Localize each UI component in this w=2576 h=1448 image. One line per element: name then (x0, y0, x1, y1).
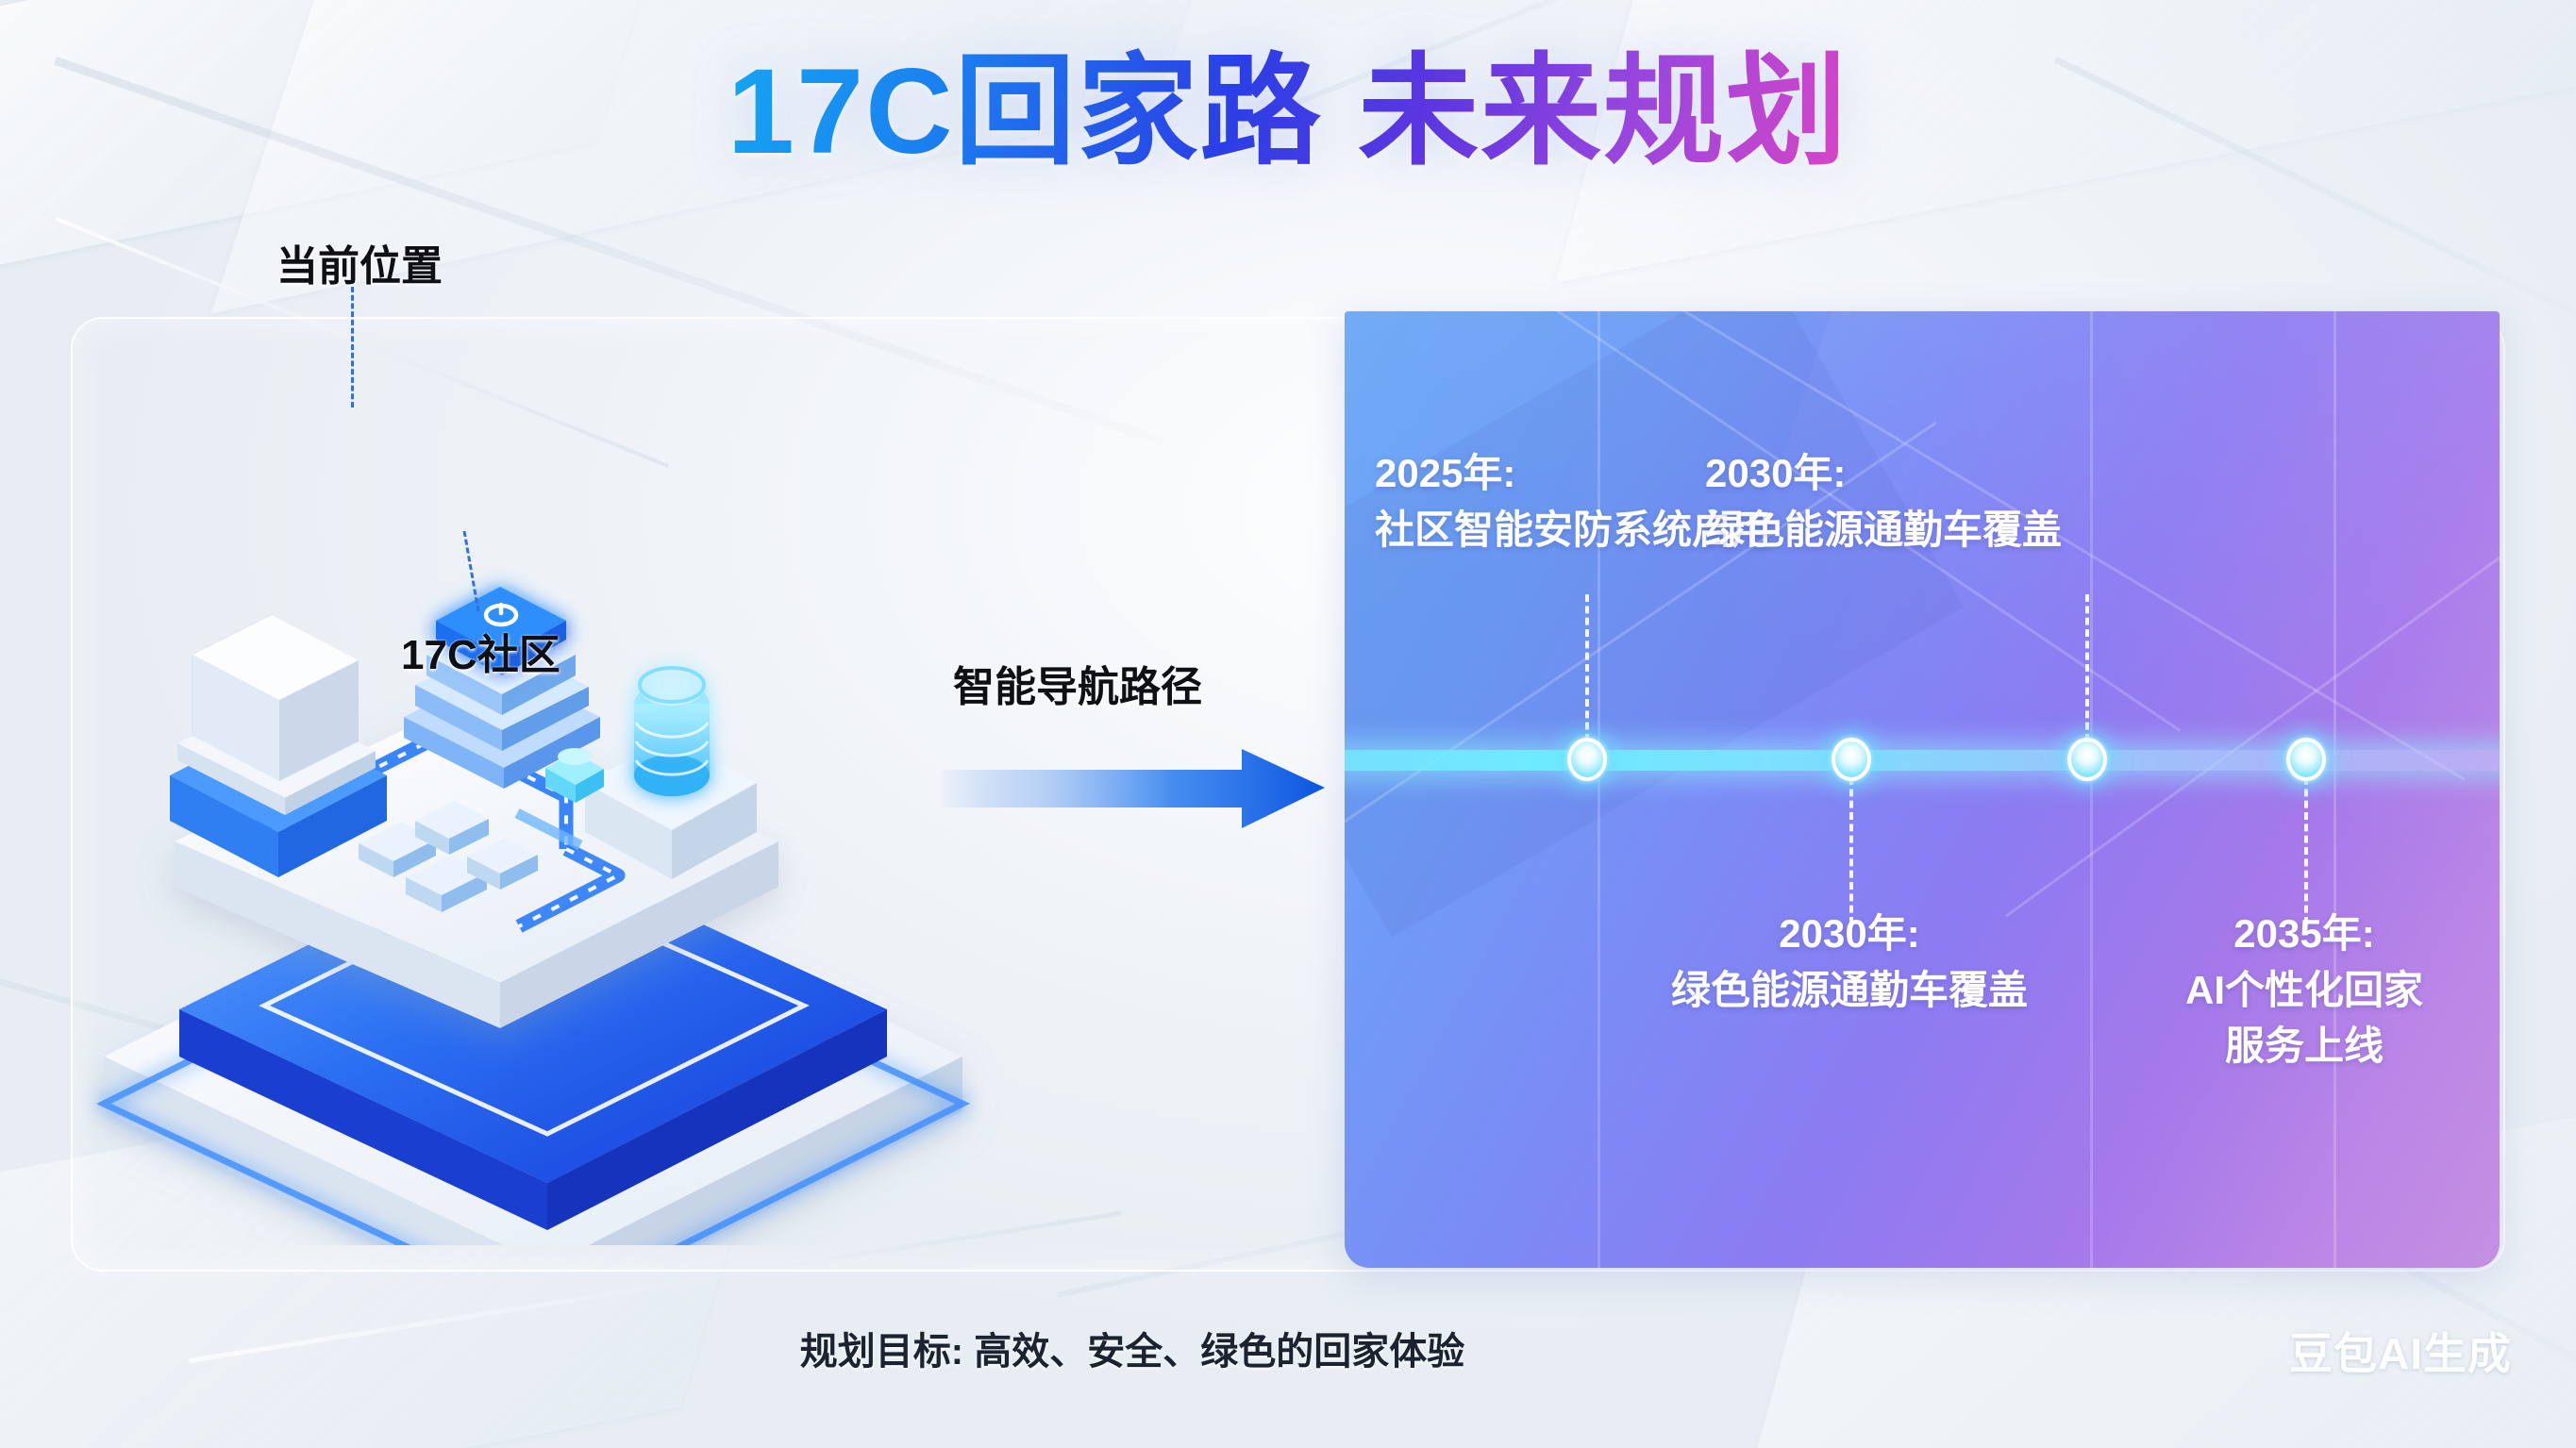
timeline-node-4[interactable] (2286, 738, 2326, 781)
panel-line-6 (2090, 311, 2093, 1268)
timeline-node-2[interactable] (1832, 738, 1871, 781)
navigation-path-label: 智能导航路径 (953, 653, 1202, 713)
current-location-label: 当前位置 (276, 232, 443, 292)
timeline-node-3[interactable] (2067, 738, 2107, 781)
timeline-item-3[interactable]: 2030年: 绿色能源通勤车覆盖 (1705, 445, 2062, 558)
isometric-city-svg (75, 406, 1038, 1245)
timeline-item-3-desc: 绿色能源通勤车覆盖 (1705, 502, 2062, 558)
current-location-leader-line (351, 287, 354, 408)
timeline-item-3-year: 2030年: (1705, 445, 2062, 502)
community-label: 17C社区 (401, 621, 560, 681)
timeline-connector-4 (2304, 777, 2308, 924)
timeline-item-4-desc2: 服务上线 (2116, 1018, 2493, 1074)
watermark-label: 豆包AI生成 (2289, 1320, 2512, 1382)
timeline-axis (1345, 750, 2500, 771)
navigation-arrow-icon (925, 745, 1340, 849)
timeline-connector-3 (2085, 594, 2089, 741)
timeline-node-1[interactable] (1567, 738, 1607, 781)
timeline-item-4-desc: AI个性化回家 (2116, 962, 2493, 1019)
footer-goal-text: 规划目标: 高效、安全、绿色的回家体验 (0, 1321, 2265, 1375)
timeline-connector-1 (1585, 594, 1589, 741)
timeline-item-4-year: 2035年: (2116, 906, 2493, 962)
timeline-connector-2 (1849, 777, 1853, 924)
panel-line-7 (2333, 311, 2336, 1268)
community-3d-illustration: 当前位置 17C社区 (75, 406, 1038, 1245)
timeline-item-4[interactable]: 2035年: AI个性化回家 服务上线 (2116, 906, 2493, 1074)
timeline-panel: 2025年: 社区智能安防系统启用 2030年: 绿色能源通勤车覆盖 2030年… (1345, 311, 2500, 1268)
